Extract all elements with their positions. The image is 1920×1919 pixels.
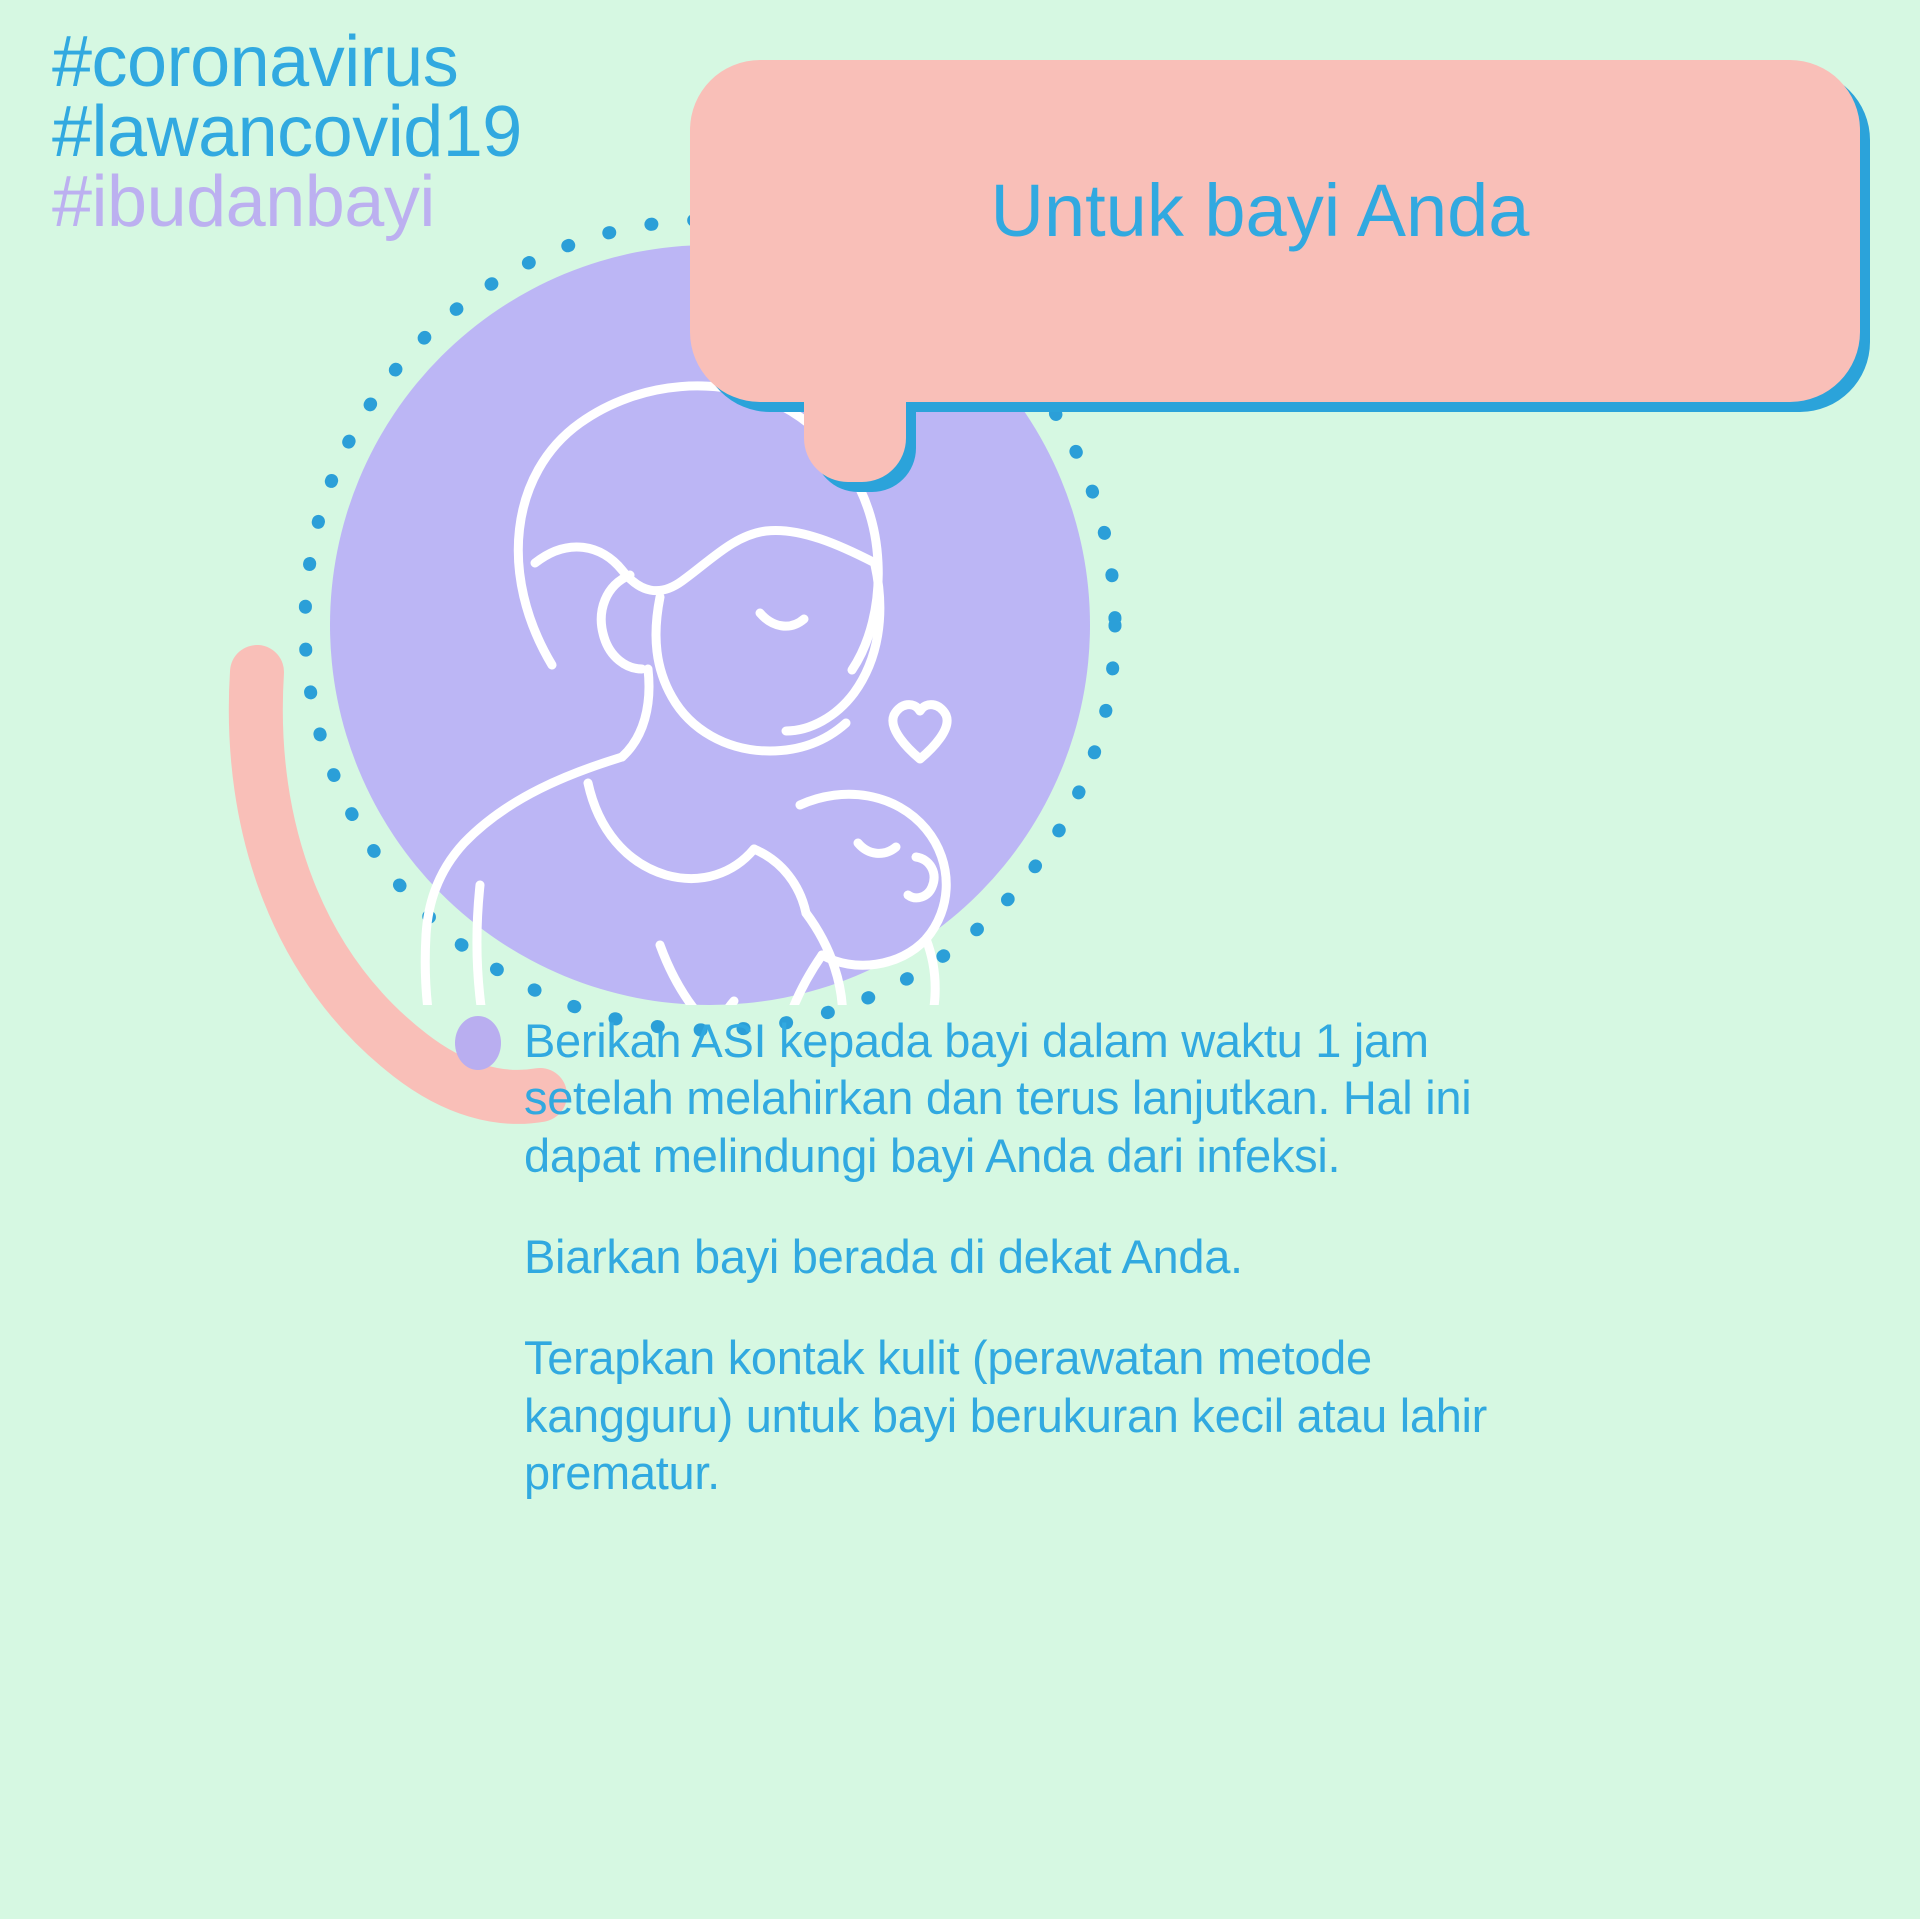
hashtag-lawancovid19: #lawancovid19: [52, 98, 522, 168]
body-paragraph-2: Biarkan bayi berada di dekat Anda.: [524, 1228, 1524, 1285]
speech-bubble-fill: [690, 60, 1860, 482]
speech-bubble: Untuk bayi Anda: [690, 60, 1870, 490]
bullet-dot-icon: [455, 1016, 501, 1070]
poster-canvas: #coronavirus #lawancovid19 #ibudanbayi: [0, 0, 1920, 1919]
hashtag-ibudanbayi: #ibudanbayi: [52, 168, 522, 238]
bubble-title: Untuk bayi Anda: [690, 168, 1860, 253]
hashtag-block: #coronavirus #lawancovid19 #ibudanbayi: [52, 28, 522, 237]
body-paragraph-1: Berikan ASI kepada bayi dalam waktu 1 ja…: [524, 1012, 1524, 1184]
hashtag-coronavirus: #coronavirus: [52, 28, 522, 98]
body-copy: Berikan ASI kepada bayi dalam waktu 1 ja…: [524, 1012, 1524, 1501]
body-paragraph-3: Terapkan kontak kulit (perawatan metode …: [524, 1329, 1524, 1501]
